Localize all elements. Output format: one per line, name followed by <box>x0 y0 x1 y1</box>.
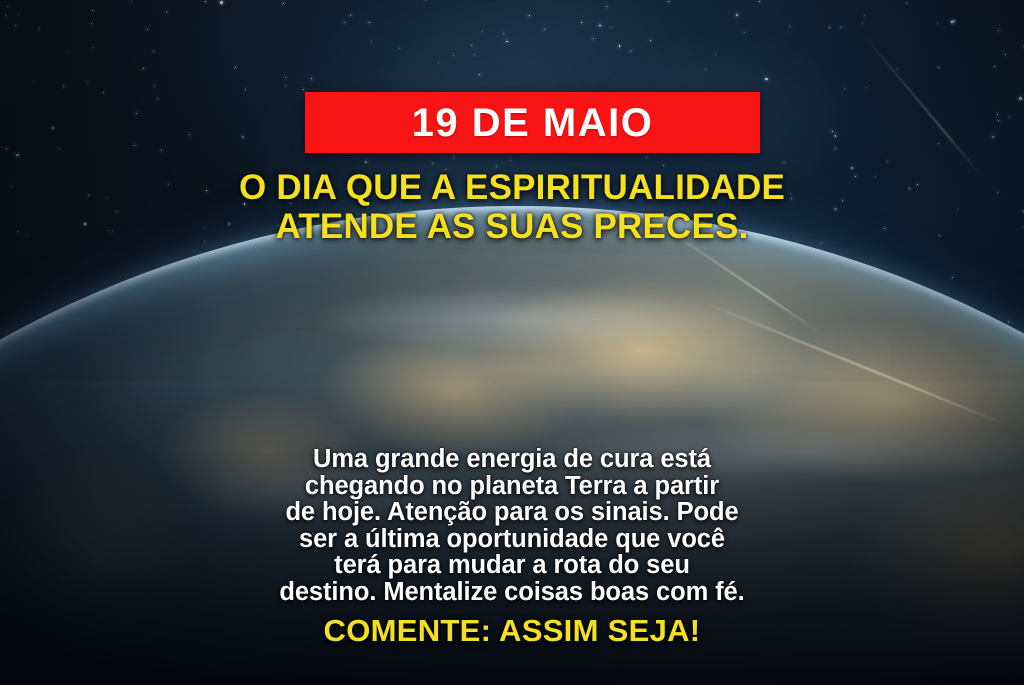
body-line: destino. Mentalize coisas boas com fé. <box>54 579 970 606</box>
body-line: de hoje. Atenção para os sinais. Pode <box>54 499 970 526</box>
headline-line-1: O DIA QUE A ESPIRITUALIDADE <box>239 168 785 207</box>
call-to-action: COMENTE: ASSIM SEJA! <box>0 615 1024 646</box>
date-banner: 19 DE MAIO <box>305 92 760 153</box>
date-banner-label: 19 DE MAIO <box>412 103 654 143</box>
poster-content: 19 DE MAIO O DIA QUE A ESPIRITUALIDADE A… <box>0 0 1024 685</box>
body-line: terá para mudar a rota do seu <box>54 552 970 579</box>
headline-line-2: ATENDE AS SUAS PRECES. <box>0 208 1024 247</box>
headline: O DIA QUE A ESPIRITUALIDADE ATENDE AS SU… <box>0 169 1024 246</box>
body-line: Uma grande energia de cura está <box>54 446 970 473</box>
body-copy: Uma grande energia de cura está chegando… <box>0 446 1024 605</box>
body-line: ser a última oportunidade que você <box>54 526 970 553</box>
call-to-action-label: COMENTE: ASSIM SEJA! <box>324 613 701 648</box>
body-line: chegando no planeta Terra a partir <box>54 473 970 500</box>
poster-canvas: 19 DE MAIO O DIA QUE A ESPIRITUALIDADE A… <box>0 0 1024 685</box>
